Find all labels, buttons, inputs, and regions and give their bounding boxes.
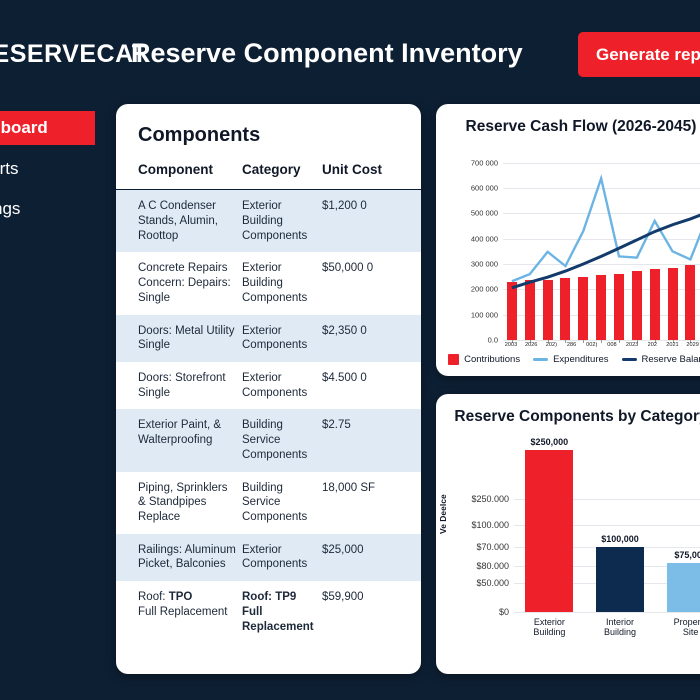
legend-label: Contributions <box>464 354 520 365</box>
x-axis-tick <box>583 340 584 343</box>
table-row[interactable]: Doors: Metal Utility SingleExterior Comp… <box>116 315 421 362</box>
cell-unit-cost: $4.500 0 <box>322 371 412 386</box>
x-axis-category-label: PropertySite <box>674 617 700 638</box>
column-header-unit-cost: Unit Cost <box>322 161 412 178</box>
legend-item[interactable]: Expenditures <box>533 354 608 365</box>
x-axis-tick-label: 2021 <box>666 342 678 348</box>
brand-logo: RESERVECAT <box>0 40 148 69</box>
category-bar <box>596 547 644 612</box>
y-axis-tick-label: $250.000 <box>471 494 509 504</box>
y-axis-tick-label: $100.000 <box>471 520 509 530</box>
cash-flow-legend: ContributionsExpendituresReserve Balance <box>436 354 700 365</box>
cell-component: Piping, Sprinklers & Standpipes Replace <box>138 481 242 525</box>
category-chart-y-axis-label: Ve Deelce <box>438 494 448 534</box>
table-row[interactable]: Exterior Paint, & WalterproofingBuilding… <box>116 409 421 471</box>
bar-value-label: $250,000 <box>531 437 569 447</box>
y-axis-tick-label: $70.000 <box>476 542 509 552</box>
cell-unit-cost: 18,000 SF <box>322 481 412 496</box>
y-axis-tick-label: 200 000 <box>471 285 498 294</box>
table-row[interactable]: A C Condenser Stands, Alumin, RoottopExt… <box>116 190 421 252</box>
sidebar-item-label: Dashboard <box>0 118 48 138</box>
table-body: A C Condenser Stands, Alumin, RoottopExt… <box>116 190 421 643</box>
cell-category: Exterior Building Components <box>242 199 322 243</box>
legend-swatch <box>448 354 459 365</box>
table-row[interactable]: Roof: TPOFull ReplacementRoof: TP9FullRe… <box>116 581 421 643</box>
y-axis-tick-label: 100 000 <box>471 310 498 319</box>
legend-item[interactable]: Contributions <box>448 354 520 365</box>
x-axis-tick-label: 202) <box>546 342 557 348</box>
generate-report-button[interactable]: Generate report <box>578 32 700 77</box>
table-row[interactable]: Concrete Repairs Concern: Depairs: Singl… <box>116 252 421 314</box>
app-root: RESERVECAT Reserve Component Inventory G… <box>0 0 700 700</box>
table-row[interactable]: Doors: Storefront SingleExterior Compone… <box>116 362 421 409</box>
cash-flow-chart-title: Reserve Cash Flow (2026-2045) <box>466 118 697 136</box>
sidebar-item-label: Settings <box>0 199 20 219</box>
app-header: RESERVECAT Reserve Component Inventory G… <box>0 0 700 104</box>
cell-component: Railings: Aluminum Picket, Balconies <box>138 543 242 572</box>
legend-swatch <box>622 358 637 361</box>
cell-unit-cost: $25,000 <box>322 543 412 558</box>
table-row[interactable]: Railings: Aluminum Picket, BalconiesExte… <box>116 534 421 581</box>
legend-swatch <box>533 358 548 361</box>
cell-category: Exterior Components <box>242 543 322 572</box>
category-chart-card: Reserve Components by Category Ve Deelce… <box>436 394 700 674</box>
bar-value-label: $100,000 <box>601 534 639 544</box>
cash-flow-lines <box>503 150 700 340</box>
legend-item[interactable]: Reserve Balance <box>622 354 700 365</box>
x-axis-tick <box>619 340 620 343</box>
y-axis-tick-label: $50.000 <box>476 578 509 588</box>
x-axis-tick <box>601 340 602 343</box>
y-axis-tick-label: 700 000 <box>471 158 498 167</box>
y-axis-tick-label: 300 000 <box>471 260 498 269</box>
x-axis-tick-label: 2029 <box>686 342 698 348</box>
x-axis-tick-label: 002) <box>586 342 597 348</box>
sidebar-item-label: Reports <box>0 159 19 179</box>
y-axis-tick-label: 0.0 <box>488 336 498 345</box>
y-axis-tick-label: $0 <box>499 607 509 617</box>
x-axis-tick-label: 2003 <box>505 342 517 348</box>
category-plot-area: $0$50.000$80.000$70.000$100.000$250.000$… <box>514 450 700 612</box>
sidebar: Dashboard Reports Settings <box>0 104 96 700</box>
cell-unit-cost: $50,000 0 <box>322 261 412 276</box>
y-axis-tick-label: 500 000 <box>471 209 498 218</box>
cell-category: Exterior Components <box>242 324 322 353</box>
cell-unit-cost: $1,200 0 <box>322 199 412 214</box>
sidebar-item-settings[interactable]: Settings <box>0 192 95 226</box>
cell-category: Exterior Building Components <box>242 261 322 305</box>
category-chart-title: Reserve Components by Category <box>454 408 700 426</box>
line-expenditures <box>512 178 700 281</box>
table-header-row: Component Category Unit Cost <box>116 157 421 190</box>
x-axis-tick-label: 2026 <box>525 342 537 348</box>
x-axis-category-label: InteriorBuilding <box>604 617 636 638</box>
column-header-category: Category <box>242 161 322 178</box>
cell-category: Exterior Components <box>242 371 322 400</box>
components-card-title: Components <box>138 124 260 147</box>
page-title: Reserve Component Inventory <box>131 38 523 69</box>
bar-value-label: $75,000 <box>674 550 700 560</box>
cash-flow-plot-area: 0.0100 000200 000300 000400 000500 00060… <box>503 150 700 340</box>
column-header-component: Component <box>138 161 242 178</box>
cell-component: Doors: Metal Utility Single <box>138 324 242 353</box>
y-axis-tick-label: 600 000 <box>471 184 498 193</box>
y-axis-tick-label: $80.000 <box>476 561 509 571</box>
x-axis-category-label: ExteriorBuilding <box>533 617 565 638</box>
x-axis-tick-label: 008 <box>607 342 616 348</box>
cell-category: Building Service Components <box>242 481 322 525</box>
legend-label: Reserve Balance <box>642 354 700 365</box>
cell-unit-cost: $2.75 <box>322 418 412 433</box>
sidebar-item-dashboard[interactable]: Dashboard <box>0 111 95 145</box>
legend-label: Expenditures <box>553 354 608 365</box>
table-row[interactable]: Piping, Sprinklers & Standpipes ReplaceB… <box>116 472 421 534</box>
category-bar <box>525 450 573 612</box>
category-bar <box>667 563 700 612</box>
cell-unit-cost: $59,900 <box>322 590 412 605</box>
cell-component: Exterior Paint, & Walterproofing <box>138 418 242 447</box>
x-axis-tick-label: 202 <box>648 342 657 348</box>
cell-component: Roof: TPOFull Replacement <box>138 590 242 619</box>
components-card: Components Component Category Unit Cost … <box>116 104 421 674</box>
components-table: Component Category Unit Cost A C Condens… <box>116 157 421 643</box>
cash-flow-chart-card: Reserve Cash Flow (2026-2045) 0.0100 000… <box>436 104 700 376</box>
line-reserve balance <box>512 204 700 287</box>
x-axis-tick-label: 2023 <box>626 342 638 348</box>
cell-category: Building Service Components <box>242 418 322 462</box>
cell-unit-cost: $2,350 0 <box>322 324 412 339</box>
y-axis-tick-label: 400 000 <box>471 234 498 243</box>
cell-component: Concrete Repairs Concern: Depairs: Singl… <box>138 261 242 305</box>
cell-component: Doors: Storefront Single <box>138 371 242 400</box>
cell-category: Roof: TP9FullReplacement <box>242 590 322 634</box>
x-axis-tick-label: 286 <box>567 342 576 348</box>
sidebar-item-reports[interactable]: Reports <box>0 152 95 186</box>
cell-component: A C Condenser Stands, Alumin, Roottop <box>138 199 242 243</box>
gridline <box>514 612 700 613</box>
